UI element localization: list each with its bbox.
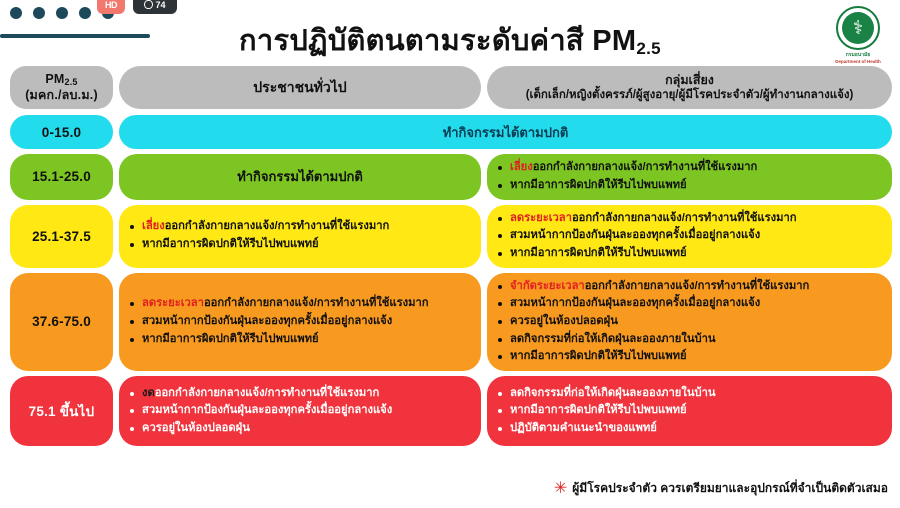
table-row: 0-15.0ทำกิจกรรมได้ตามปกติ — [10, 115, 892, 149]
advice-text: ออกกำลังกายกลางแจ้ง/การทำงานที่ใช้แรงมาก — [155, 387, 380, 399]
column-header-risk-group: กลุ่มเสี่ยง (เด็กเล็ก/หญิงตั้งครรภ์/ผู้ส… — [487, 66, 892, 109]
advice-text: หากมีอาการผิดปกติให้รีบไปพบแพทย์ — [510, 247, 687, 259]
table-row: 75.1 ขึ้นไปงดออกกำลังกายกลางแจ้ง/การทำงา… — [10, 376, 892, 446]
advice-item: งดออกกำลังกายกลางแจ้ง/การทำงานที่ใช้แรงม… — [129, 385, 471, 403]
decorative-dot — [10, 7, 22, 19]
general-public-cell: ทำกิจกรรมได้ตามปกติ — [119, 154, 481, 199]
eye-icon — [144, 0, 153, 9]
column-header-level: PM2.5 (มคก./ลบ.ม.) — [10, 66, 113, 109]
advice-highlight: ลดระยะเวลา — [510, 212, 572, 224]
advice-highlight: ลดระยะเวลา — [142, 297, 204, 309]
advice-item: สวมหน้ากากป้องกันฝุ่นละอองทุกครั้งเมื่ออ… — [129, 313, 471, 331]
level-badge: 75.1 ขึ้นไป — [10, 376, 113, 446]
table-row: 25.1-37.5เลี่ยงออกกำลังกายกลางแจ้ง/การทำ… — [10, 205, 892, 268]
pm25-guidance-table: PM2.5 (มคก./ลบ.ม.) ประชาชนทั่วไป กลุ่มเส… — [10, 66, 892, 451]
advice-text: หากมีอาการผิดปกติให้รีบไปพบแพทย์ — [510, 350, 687, 362]
advice-list: ลดระยะเวลาออกกำลังกายกลางแจ้ง/การทำงานที… — [497, 210, 882, 263]
risk-group-cell: ลดระยะเวลาออกกำลังกายกลางแจ้ง/การทำงานที… — [487, 205, 892, 268]
advice-text: หากมีอาการผิดปกติให้รีบไปพบแพทย์ — [510, 179, 687, 191]
advice-highlight: เลี่ยง — [510, 161, 533, 173]
advice-item: ลดกิจกรรมที่ก่อให้เกิดฝุ่นละอองภายในบ้าน — [497, 385, 882, 403]
column-header-risk-title: กลุ่มเสี่ยง — [665, 72, 714, 88]
table-row: 15.1-25.0ทำกิจกรรมได้ตามปกติเลี่ยงออกกำล… — [10, 154, 892, 199]
top-chrome-bar: HD 74 — [0, 0, 900, 26]
advice-text: ออกกำลังกายกลางแจ้ง/การทำงานที่ใช้แรงมาก — [533, 161, 758, 173]
advice-highlight: เลี่ยง — [142, 220, 165, 232]
logo-caption-th: กรมอนามัย — [826, 51, 890, 59]
advice-item: หากมีอาการผิดปกติให้รีบไปพบแพทย์ — [497, 245, 882, 263]
advice-text: สวมหน้ากากป้องกันฝุ่นละอองทุกครั้งเมื่ออ… — [510, 297, 760, 309]
advice-text: สวมหน้ากากป้องกันฝุ่นละอองทุกครั้งเมื่ออ… — [510, 229, 760, 241]
general-public-note: ทำกิจกรรมได้ตามปกติ — [129, 166, 471, 187]
decorative-dot — [79, 7, 91, 19]
column-header-level-unit: (มคก./ลบ.ม.) — [25, 88, 98, 104]
general-public-cell: งดออกกำลังกายกลางแจ้ง/การทำงานที่ใช้แรงม… — [119, 376, 481, 446]
asterisk-icon: ✳ — [554, 481, 567, 497]
general-public-cell: เลี่ยงออกกำลังกายกลางแจ้ง/การทำงานที่ใช้… — [119, 205, 481, 268]
risk-group-cell: เลี่ยงออกกำลังกายกลางแจ้ง/การทำงานที่ใช้… — [487, 154, 892, 199]
advice-item: หากมีอาการผิดปกติให้รีบไปพบแพทย์ — [497, 177, 882, 195]
advice-list: เลี่ยงออกกำลังกายกลางแจ้ง/การทำงานที่ใช้… — [497, 159, 882, 194]
level-badge: 37.6-75.0 — [10, 273, 113, 371]
advice-text: ลดกิจกรรมที่ก่อให้เกิดฝุ่นละอองภายในบ้าน — [510, 387, 716, 399]
advice-item: หากมีอาการผิดปกติให้รีบไปพบแพทย์ — [129, 331, 471, 349]
footnote: ✳ ผู้มีโรคประจำตัว ควรเตรียมยาและอุปกรณ์… — [554, 479, 888, 498]
advice-text: ควรอยู่ในห้องปลอดฝุ่น — [142, 422, 250, 434]
advice-item: จำกัดระยะเวลาออกกำลังกายกลางแจ้ง/การทำงา… — [497, 278, 882, 296]
level-badge: 0-15.0 — [10, 115, 113, 149]
pm-text: PM — [45, 72, 64, 86]
pm-subscript: 2.5 — [65, 77, 78, 87]
table-row: 37.6-75.0ลดระยะเวลาออกกำลังกายกลางแจ้ง/ก… — [10, 273, 892, 371]
advice-item: เลี่ยงออกกำลังกายกลางแจ้ง/การทำงานที่ใช้… — [497, 159, 882, 177]
page-title-main: การปฏิบัติตนตามระดับค่าสี PM — [239, 25, 636, 57]
advice-text: หากมีอาการผิดปกติให้รีบไปพบแพทย์ — [510, 404, 687, 416]
advice-highlight: จำกัดระยะเวลา — [510, 280, 585, 292]
advice-text: ออกกำลังกายกลางแจ้ง/การทำงานที่ใช้แรงมาก — [204, 297, 429, 309]
table-body: 0-15.0ทำกิจกรรมได้ตามปกติ15.1-25.0ทำกิจก… — [10, 115, 892, 446]
decorative-dot — [33, 7, 45, 19]
hd-badge: HD — [97, 0, 125, 14]
table-header-row: PM2.5 (มคก./ลบ.ม.) ประชาชนทั่วไป กลุ่มเส… — [10, 66, 892, 109]
advice-item: หากมีอาการผิดปกติให้รีบไปพบแพทย์ — [497, 348, 882, 366]
advice-list: เลี่ยงออกกำลังกายกลางแจ้ง/การทำงานที่ใช้… — [129, 218, 471, 253]
footnote-text: ผู้มีโรคประจำตัว ควรเตรียมยาและอุปกรณ์ที… — [572, 479, 888, 498]
decorative-dot — [56, 7, 68, 19]
logo-caption-en: Department of Health — [826, 59, 890, 64]
risk-group-cell: จำกัดระยะเวลาออกกำลังกายกลางแจ้ง/การทำงา… — [487, 273, 892, 371]
advice-item: ลดระยะเวลาออกกำลังกายกลางแจ้ง/การทำงานที… — [497, 210, 882, 228]
risk-group-cell: ลดกิจกรรมที่ก่อให้เกิดฝุ่นละอองภายในบ้าน… — [487, 376, 892, 446]
view-count-label: 74 — [155, 0, 165, 10]
advice-text: ออกกำลังกายกลางแจ้ง/การทำงานที่ใช้แรงมาก — [165, 220, 390, 232]
advice-text: หากมีอาการผิดปกติให้รีบไปพบแพทย์ — [142, 238, 319, 250]
advice-highlight: งด — [142, 387, 155, 399]
page-title-subscript: 2.5 — [636, 39, 661, 58]
advice-list: ลดระยะเวลาออกกำลังกายกลางแจ้ง/การทำงานที… — [129, 295, 471, 348]
advice-item: เลี่ยงออกกำลังกายกลางแจ้ง/การทำงานที่ใช้… — [129, 218, 471, 236]
column-header-risk-subtitle: (เด็กเล็ก/หญิงตั้งครรภ์/ผู้สูงอายุ/ผู้มี… — [526, 88, 854, 103]
advice-text: ควรอยู่ในห้องปลอดฝุ่น — [510, 315, 618, 327]
advice-text: สวมหน้ากากป้องกันฝุ่นละอองทุกครั้งเมื่ออ… — [142, 404, 392, 416]
advice-item: ลดกิจกรรมที่ก่อให้เกิดฝุ่นละอองภายในบ้าน — [497, 331, 882, 349]
advice-text: หากมีอาการผิดปกติให้รีบไปพบแพทย์ — [142, 333, 319, 345]
advice-list: จำกัดระยะเวลาออกกำลังกายกลางแจ้ง/การทำงา… — [497, 278, 882, 366]
advice-item: ปฏิบัติตามคำแนะนำของแพทย์ — [497, 420, 882, 438]
advice-text: สวมหน้ากากป้องกันฝุ่นละอองทุกครั้งเมื่ออ… — [142, 315, 392, 327]
level-badge: 15.1-25.0 — [10, 154, 113, 199]
advice-item: สวมหน้ากากป้องกันฝุ่นละอองทุกครั้งเมื่ออ… — [497, 227, 882, 245]
advice-list: งดออกกำลังกายกลางแจ้ง/การทำงานที่ใช้แรงม… — [129, 385, 471, 438]
advice-item: หากมีอาการผิดปกติให้รีบไปพบแพทย์ — [129, 236, 471, 254]
advice-text: ออกกำลังกายกลางแจ้ง/การทำงานที่ใช้แรงมาก — [585, 280, 810, 292]
advice-list: ลดกิจกรรมที่ก่อให้เกิดฝุ่นละอองภายในบ้าน… — [497, 385, 882, 438]
advice-item: ควรอยู่ในห้องปลอดฝุ่น — [129, 420, 471, 438]
level-badge: 25.1-37.5 — [10, 205, 113, 268]
column-header-general-public: ประชาชนทั่วไป — [119, 66, 481, 109]
view-count-badge: 74 — [133, 0, 177, 14]
general-public-cell: ลดระยะเวลาออกกำลังกายกลางแจ้ง/การทำงานที… — [119, 273, 481, 371]
merged-advice-cell: ทำกิจกรรมได้ตามปกติ — [119, 115, 892, 149]
advice-item: สวมหน้ากากป้องกันฝุ่นละอองทุกครั้งเมื่ออ… — [129, 402, 471, 420]
advice-item: สวมหน้ากากป้องกันฝุ่นละอองทุกครั้งเมื่ออ… — [497, 295, 882, 313]
advice-text: ปฏิบัติตามคำแนะนำของแพทย์ — [510, 422, 657, 434]
advice-text: ลดกิจกรรมที่ก่อให้เกิดฝุ่นละอองภายในบ้าน — [510, 333, 716, 345]
advice-item: ลดระยะเวลาออกกำลังกายกลางแจ้ง/การทำงานที… — [129, 295, 471, 313]
advice-item: ควรอยู่ในห้องปลอดฝุ่น — [497, 313, 882, 331]
column-header-level-line1: PM2.5 — [45, 72, 77, 88]
advice-text: ออกกำลังกายกลางแจ้ง/การทำงานที่ใช้แรงมาก — [572, 212, 797, 224]
advice-item: หากมีอาการผิดปกติให้รีบไปพบแพทย์ — [497, 402, 882, 420]
